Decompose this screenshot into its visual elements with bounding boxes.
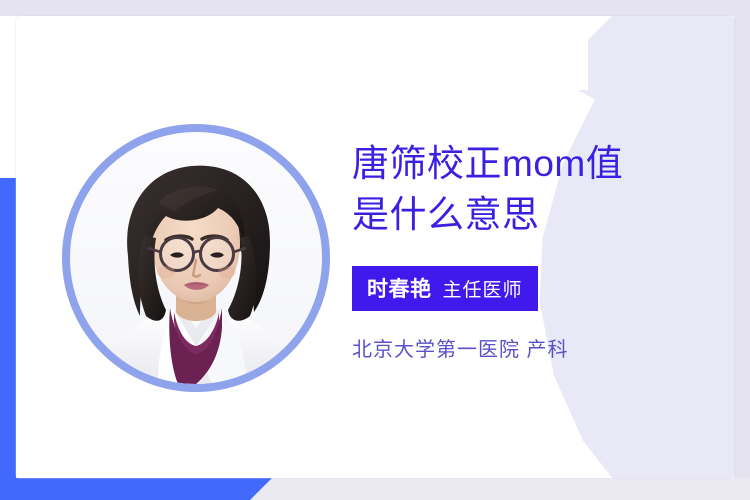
doctor-affiliation: 北京大学第一医院 产科 bbox=[352, 333, 702, 362]
avatar bbox=[62, 124, 330, 392]
doctor-info-card: 唐筛校正mom值 是什么意思 时春艳 主任医师 北京大学第一医院 产科 bbox=[0, 0, 750, 500]
decorative-blob-notch bbox=[508, 16, 588, 90]
avatar-ring bbox=[62, 124, 330, 392]
page-title: 唐筛校正mom值 是什么意思 bbox=[352, 138, 702, 240]
frame-top-band bbox=[0, 0, 750, 16]
accent-strip-left bbox=[0, 178, 16, 500]
doctor-name: 时春艳 bbox=[367, 273, 432, 303]
doctor-title: 主任医师 bbox=[443, 275, 523, 302]
accent-strip-bottom bbox=[0, 478, 272, 500]
frame-right-band bbox=[734, 0, 750, 500]
card-panel: 唐筛校正mom值 是什么意思 时春艳 主任医师 北京大学第一医院 产科 bbox=[16, 16, 734, 478]
doctor-credential-badge: 时春艳 主任医师 bbox=[352, 266, 538, 311]
frame-bottom-filler bbox=[250, 478, 750, 500]
content-block: 唐筛校正mom值 是什么意思 时春艳 主任医师 北京大学第一医院 产科 bbox=[352, 138, 702, 362]
